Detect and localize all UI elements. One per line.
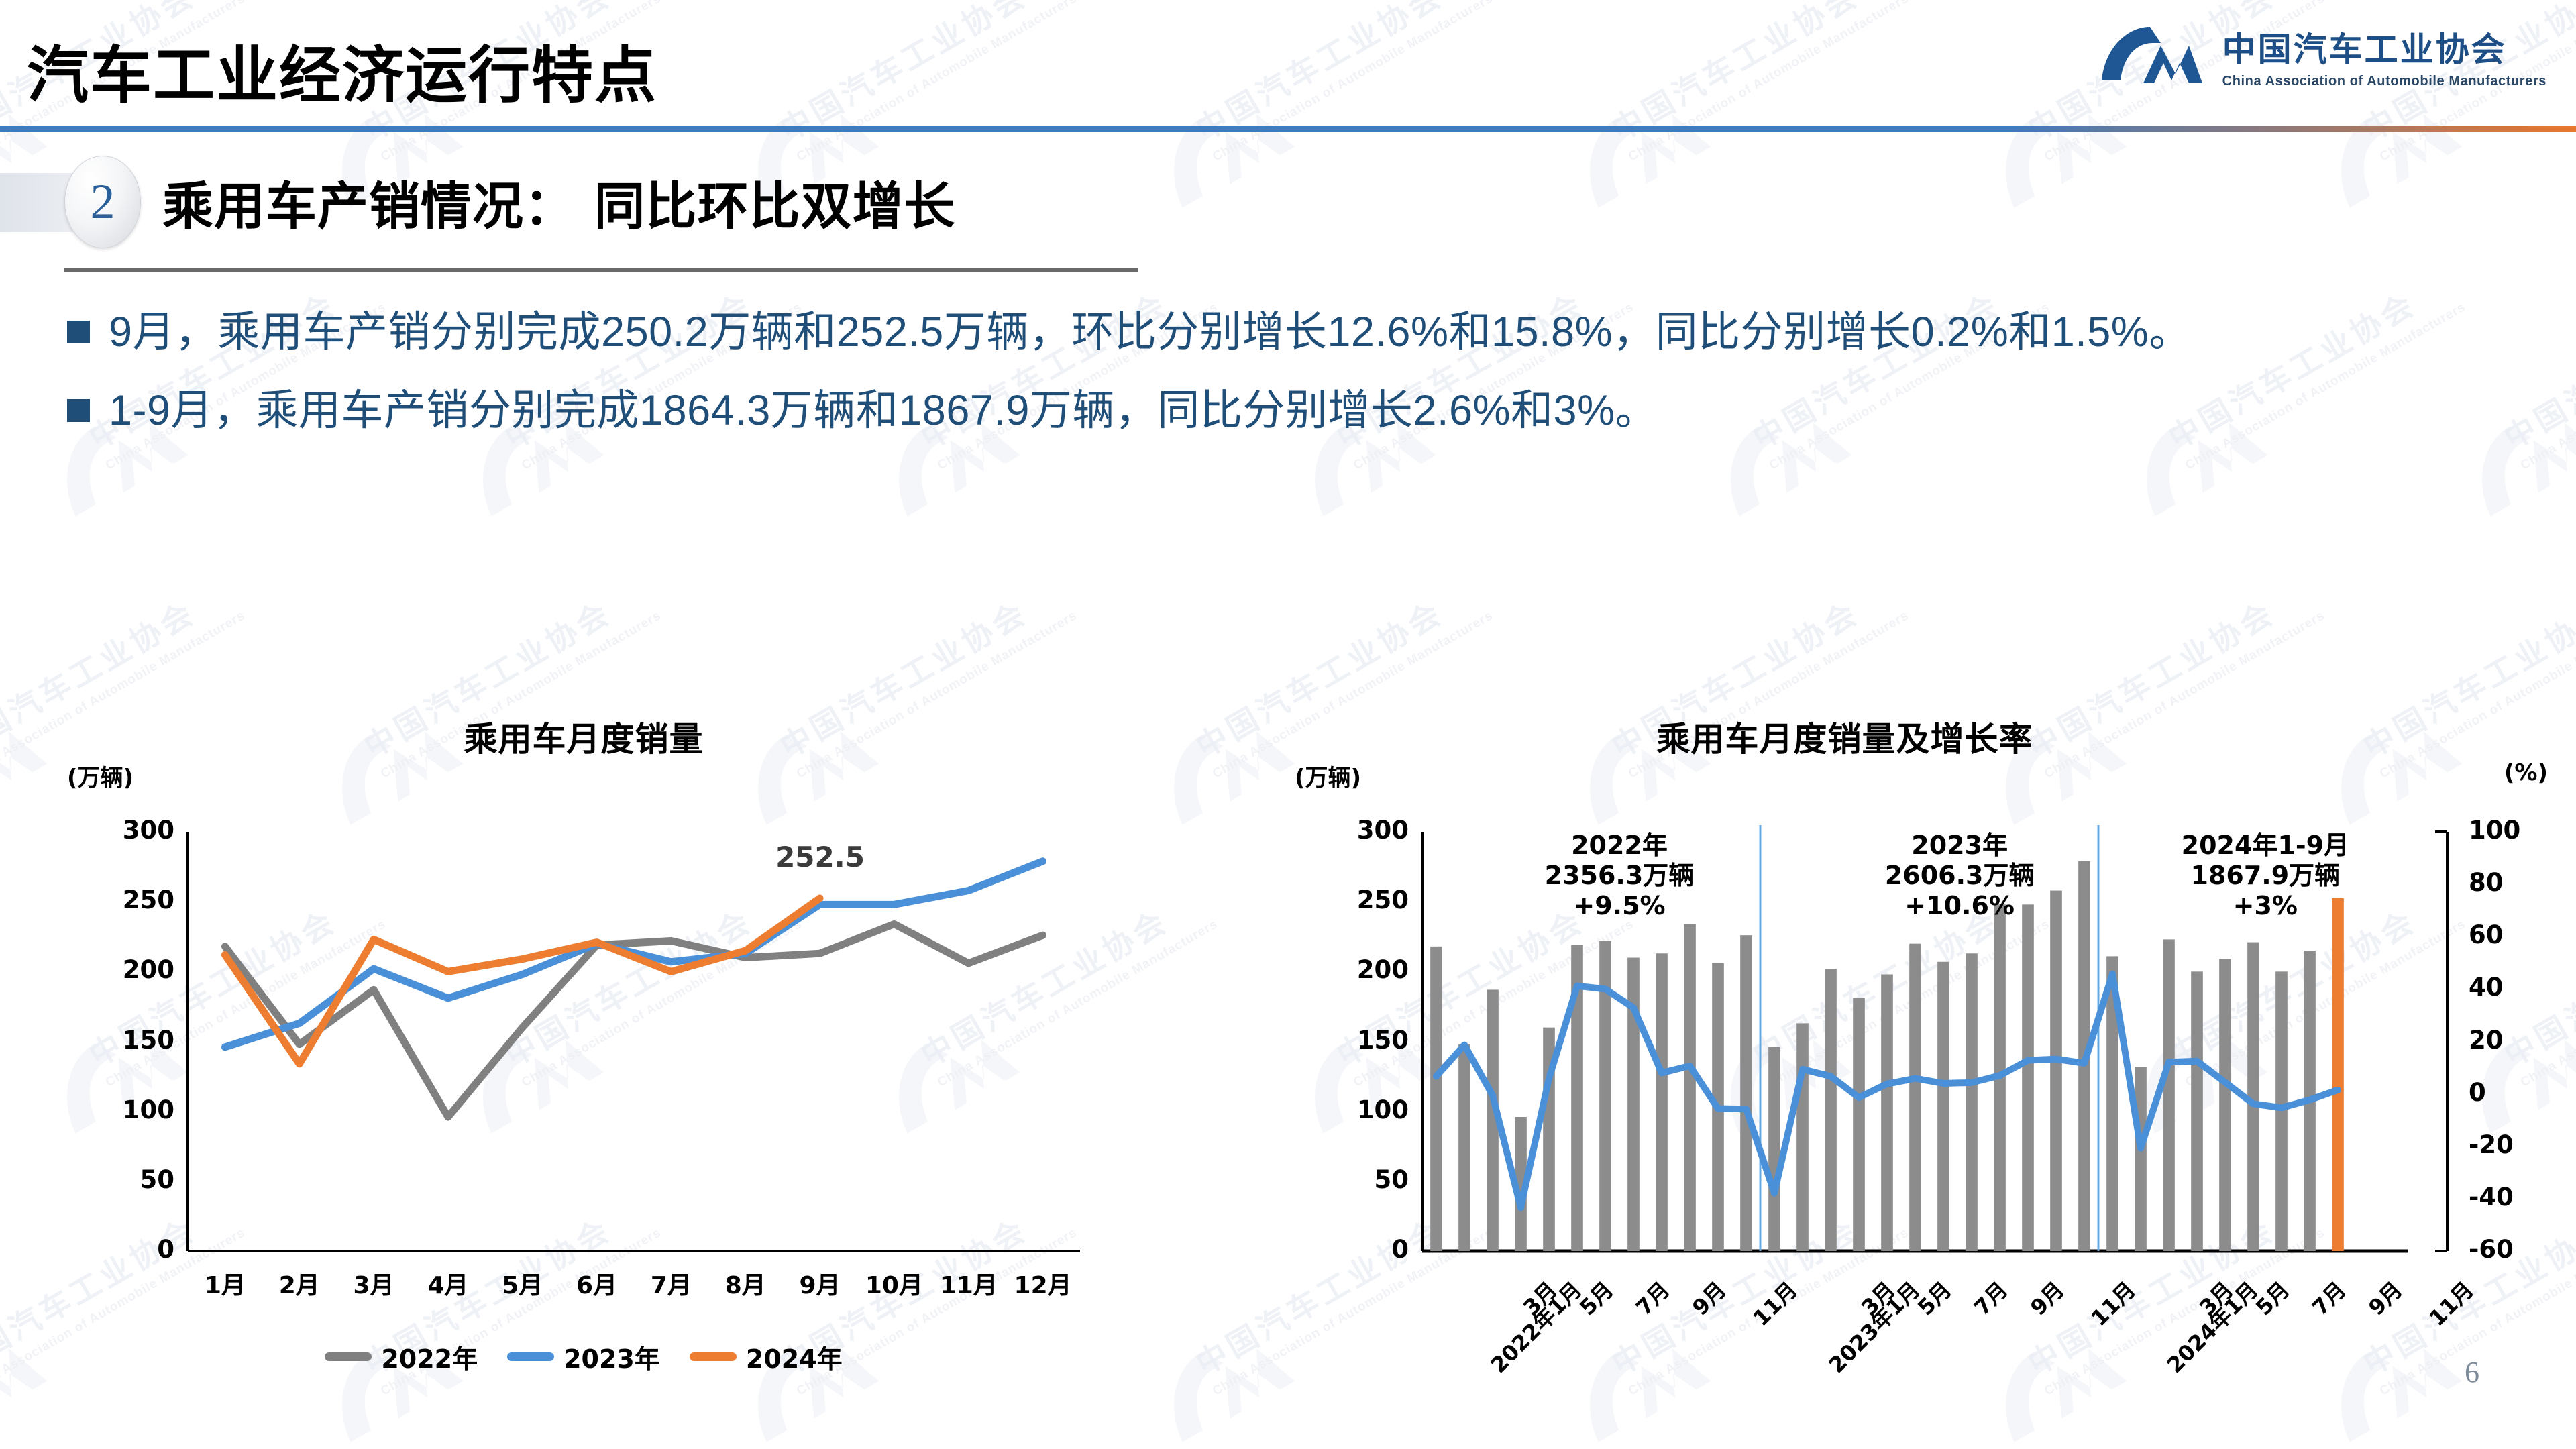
y-axis-right-tick-label: -40 [2469, 1183, 2569, 1212]
y-axis-tick-label: 50 [80, 1165, 174, 1194]
bar [1768, 1047, 1780, 1251]
list-item: 1-9月，乘用车产销分别完成1864.3万辆和1867.9万辆，同比分别增长2.… [67, 382, 2200, 440]
legend-label: 2024年 [746, 1338, 843, 1375]
legend-swatch [507, 1352, 554, 1361]
bar [2135, 1067, 2147, 1251]
chart-legend: 2022年2023年2024年 [60, 1338, 1107, 1375]
bar [2275, 971, 2288, 1251]
chart-passenger-monthly-sales: 乘用车月度销量 (万辆) 2022年2023年2024年 30025020015… [60, 698, 1107, 1382]
legend-item-2023年[interactable]: 2023年 [507, 1338, 660, 1375]
legend-swatch [325, 1352, 372, 1361]
watermark-logo-icon [1126, 686, 1309, 851]
bar [2163, 939, 2175, 1251]
section-title: 乘用车产销情况： 同比环比双增长 [162, 165, 955, 239]
bar [1937, 962, 1949, 1251]
y-axis-left-tick-label: 250 [1308, 885, 1409, 914]
watermark-logo-icon [0, 686, 62, 851]
legend-swatch [690, 1352, 737, 1361]
x-axis-tick-label: 11月 [928, 1266, 1009, 1301]
bar [2022, 904, 2034, 1251]
bullet-square-icon [67, 399, 90, 422]
bar [2050, 891, 2062, 1252]
legend-label: 2023年 [563, 1338, 660, 1375]
bar [1853, 998, 1865, 1251]
list-item: 9月，乘用车产销分别完成250.2万辆和252.5万辆，环比分别增长12.6%和… [67, 303, 2200, 362]
y-axis-right-tick-label: 60 [2469, 920, 2569, 949]
y-axis-tick-label: 100 [80, 1095, 174, 1124]
section-heading: 2 乘用车产销情况： 同比环比双增长 [64, 156, 955, 248]
y-axis-right-tick-label: 0 [2469, 1078, 2569, 1107]
y-axis-left-tick-label: 0 [1308, 1235, 1409, 1264]
bar [1796, 1023, 1809, 1251]
slide-header: 汽车工业经济运行特点 中国汽车工业协会 China Association of… [0, 0, 2576, 131]
y-axis-tick-label: 150 [80, 1026, 174, 1055]
bar [1430, 947, 1442, 1251]
chart-annotation: 2023年 2606.3万辆 +10.6% [1832, 830, 2087, 920]
y-axis-tick-label: 0 [80, 1235, 174, 1264]
y-axis-right-tick-label: -20 [2469, 1130, 2569, 1159]
y-axis-left-tick-label: 50 [1308, 1165, 1409, 1194]
watermark-text: 中国汽车工业协会China Association of Automobile … [2495, 260, 2576, 474]
bar [1966, 953, 1978, 1251]
x-axis-tick-label: 5月 [482, 1266, 563, 1301]
bullet-square-icon [67, 321, 90, 343]
chart-canvas [1295, 698, 2556, 1382]
y-axis-tick-label: 200 [80, 955, 174, 984]
x-axis-tick-label: 6月 [557, 1266, 637, 1301]
page-number: 6 [2465, 1355, 2479, 1389]
y-axis-tick-label: 300 [80, 816, 174, 845]
logo-chinese-name: 中国汽车工业协会 [2222, 23, 2546, 71]
bullet-text: 9月，乘用车产销分别完成250.2万辆和252.5万辆，环比分别增长12.6%和… [109, 303, 2192, 362]
chart-passenger-monthly-sales-growth: 乘用车月度销量及增长率 (万辆) (%) 3002502001501005001… [1295, 698, 2556, 1382]
chart-annotation: 2024年1-9月 1867.9万辆 +3% [2138, 830, 2393, 920]
bar [1684, 924, 1696, 1252]
x-axis-tick-label: 7月 [631, 1266, 711, 1301]
x-axis-tick-label: 9月 [780, 1266, 860, 1301]
x-axis-tick-label: 1月 [184, 1266, 265, 1301]
header-divider-rule [0, 126, 2576, 132]
legend-item-2022年[interactable]: 2022年 [325, 1338, 478, 1375]
y-axis-left-tick-label: 100 [1308, 1095, 1409, 1124]
bar [1881, 975, 1893, 1252]
chart-annotation: 2022年 2356.3万辆 +9.5% [1492, 830, 1747, 920]
watermark-logo-icon [1126, 1303, 1309, 1449]
y-axis-left-tick-label: 200 [1308, 955, 1409, 984]
x-axis-tick-label: 3月 [333, 1266, 414, 1301]
bar [1909, 944, 1921, 1251]
bar [1656, 953, 1668, 1251]
y-axis-tick-label: 250 [80, 885, 174, 914]
watermark-logo-icon [2434, 378, 2576, 542]
y-axis-left-tick-label: 150 [1308, 1026, 1409, 1055]
legend-label: 2022年 [381, 1338, 478, 1375]
x-axis-tick-label: 10月 [854, 1266, 934, 1301]
x-axis-tick-label: 4月 [408, 1266, 488, 1301]
x-axis-tick-label: 2月 [259, 1266, 339, 1301]
bar [2191, 971, 2203, 1251]
bar [2219, 959, 2231, 1251]
y-axis-left-tick-label: 300 [1308, 816, 1409, 845]
x-axis-tick-label: 8月 [705, 1266, 786, 1301]
watermark-text: 中国汽车工业协会China Association of Automobile … [2159, 260, 2468, 474]
bar [1458, 1044, 1470, 1251]
bullet-list: 9月，乘用车产销分别完成250.2万辆和252.5万辆，环比分别增长12.6%和… [67, 303, 2200, 460]
caam-logo-icon [2091, 16, 2205, 95]
legend-item-2024年[interactable]: 2024年 [690, 1338, 843, 1375]
section-underline [64, 268, 1138, 272]
data-label: 252.5 [775, 841, 865, 873]
bullet-text: 1-9月，乘用车产销分别完成1864.3万辆和1867.9万辆，同比分别增长2.… [109, 382, 1658, 440]
x-axis-tick-label: 12月 [1003, 1266, 1083, 1301]
logo-english-name: China Association of Automobile Manufact… [2222, 74, 2546, 89]
bar [2332, 898, 2344, 1251]
series-line-2024年 [225, 898, 820, 1064]
section-number-badge: 2 [64, 156, 141, 248]
section-number: 2 [91, 174, 115, 231]
y-axis-right-tick-label: -60 [2469, 1235, 2569, 1264]
page-title: 汽车工业经济运行特点 [27, 25, 657, 115]
bar [1825, 969, 1837, 1251]
y-axis-right-tick-label: 100 [2469, 816, 2569, 845]
y-axis-right-tick-label: 20 [2469, 1026, 2569, 1055]
watermark-logo-icon [0, 1303, 62, 1449]
y-axis-right-tick-label: 40 [2469, 973, 2569, 1002]
y-axis-right-tick-label: 80 [2469, 868, 2569, 897]
organization-logo: 中国汽车工业协会 China Association of Automobile… [2091, 16, 2546, 95]
bar [1740, 935, 1752, 1251]
